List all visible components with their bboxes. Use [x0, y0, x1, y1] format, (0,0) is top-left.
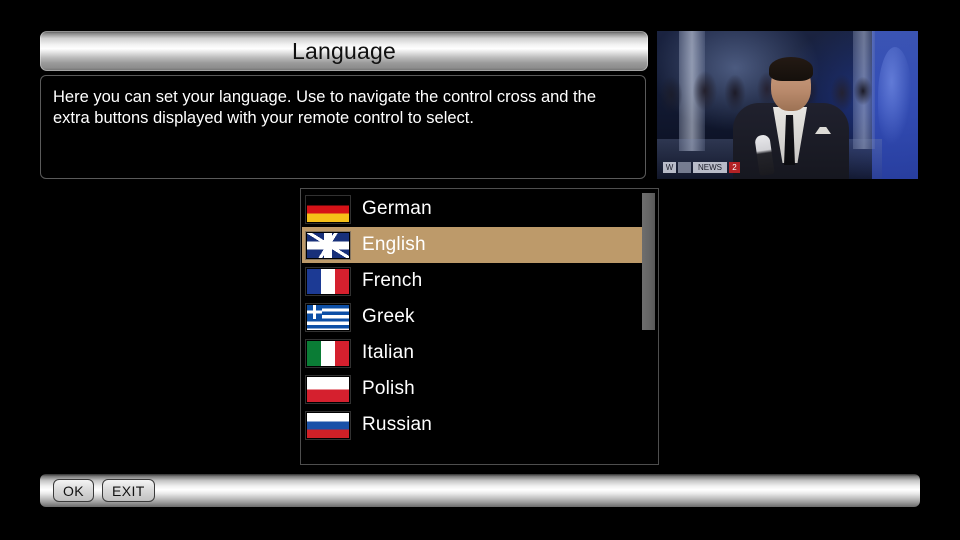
channel-logo-part-2 — [678, 162, 691, 173]
list-item[interactable]: Polish — [302, 371, 643, 407]
ok-button[interactable]: OK — [53, 479, 94, 502]
scrollbar-track[interactable] — [642, 191, 655, 463]
video-reporter-hair — [769, 57, 813, 81]
tv-settings-screen: Language Here you can set your language.… — [0, 0, 960, 540]
bottom-action-bar: OK EXIT — [40, 474, 920, 507]
channel-logo: W NEWS 2 — [663, 161, 747, 174]
list-item-label: Greek — [362, 306, 415, 328]
flag-germany-icon — [306, 196, 350, 223]
list-item-label: Italian — [362, 342, 414, 364]
flag-united-kingdom-icon — [306, 232, 350, 259]
flag-russia-icon — [306, 412, 350, 439]
list-item[interactable]: Italian — [302, 335, 643, 371]
channel-logo-part-3: NEWS — [693, 162, 727, 173]
language-list-panel[interactable]: German English French Greek Italian Poli — [300, 188, 659, 465]
list-item-label: English — [362, 234, 426, 256]
window-title-bar: Language — [40, 31, 648, 71]
channel-logo-part-1: W — [663, 162, 676, 173]
flag-poland-icon — [306, 376, 350, 403]
help-text-box: Here you can set your language. Use to n… — [40, 75, 646, 179]
flag-france-icon — [306, 268, 350, 295]
exit-button[interactable]: EXIT — [102, 479, 155, 502]
help-text: Here you can set your language. Use to n… — [53, 87, 633, 129]
list-item[interactable]: German — [302, 191, 643, 227]
language-list: German English French Greek Italian Poli — [302, 191, 643, 443]
list-item[interactable]: Greek — [302, 299, 643, 335]
list-item[interactable]: English — [302, 227, 643, 263]
video-preview[interactable]: W NEWS 2 — [657, 31, 918, 179]
list-item-label: Russian — [362, 414, 432, 436]
list-item-label: German — [362, 198, 432, 220]
list-item[interactable]: French — [302, 263, 643, 299]
flag-italy-icon — [306, 340, 350, 367]
list-item-label: Polish — [362, 378, 415, 400]
flag-greece-icon — [306, 304, 350, 331]
channel-logo-part-4: 2 — [729, 162, 740, 173]
list-item[interactable]: Russian — [302, 407, 643, 443]
page-title: Language — [292, 38, 396, 65]
list-item-label: French — [362, 270, 422, 292]
scrollbar-thumb[interactable] — [642, 193, 655, 330]
